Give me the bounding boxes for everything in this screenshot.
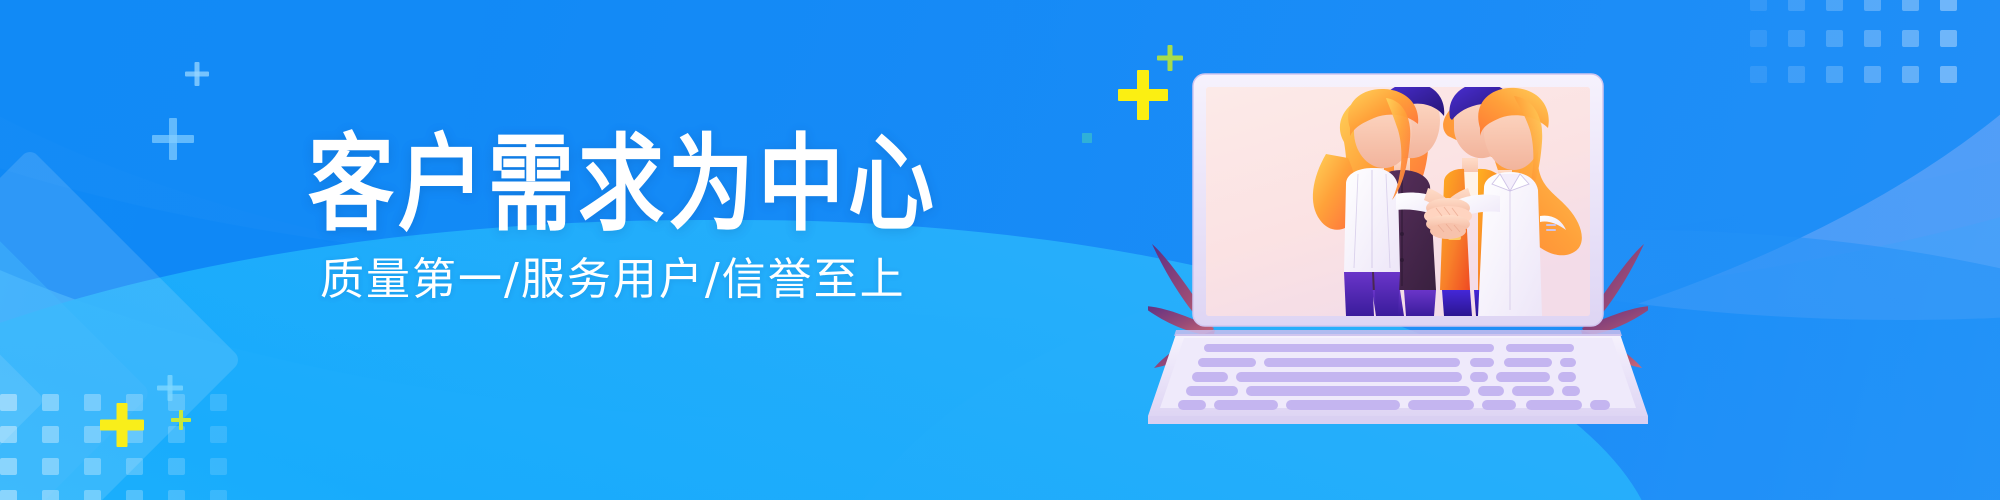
grid-square xyxy=(126,394,143,411)
grid-square xyxy=(1826,30,1843,47)
plus-icon-dot-accent xyxy=(1082,133,1092,143)
banner-subtitle: 质量第一/服务用户/信誉至上 xyxy=(320,258,906,302)
grid-square xyxy=(1750,66,1767,83)
plus-icon-cyan-small xyxy=(157,375,183,401)
grid-square xyxy=(1864,30,1881,47)
grid-square xyxy=(1750,30,1767,47)
grid-square xyxy=(168,426,185,443)
chevron-shape-middle xyxy=(0,216,152,500)
banner-headline: 客户需求为中心 xyxy=(308,130,1028,241)
grid-square xyxy=(210,394,227,411)
grid-square xyxy=(0,490,17,500)
plus-icon-yellow-small xyxy=(171,410,191,430)
plus-icon-blue-large xyxy=(152,118,194,160)
grid-square xyxy=(210,458,227,475)
grid-square xyxy=(0,458,17,475)
grid-square xyxy=(168,458,185,475)
grid-square xyxy=(168,490,185,500)
grid-square xyxy=(1940,0,1957,11)
grid-square xyxy=(1902,66,1919,83)
grid-square xyxy=(42,394,59,411)
promo-banner: 客户需求为中心 质量第一/服务用户/信誉至上 xyxy=(0,0,2000,500)
grid-square xyxy=(84,458,101,475)
team-handstack-laptop-illustration xyxy=(1148,58,1648,448)
square-grid-bottom-left xyxy=(0,394,330,500)
grid-square xyxy=(1826,0,1843,11)
grid-square xyxy=(1788,30,1805,47)
grid-square xyxy=(126,458,143,475)
grid-square xyxy=(84,490,101,500)
grid-square xyxy=(1902,0,1919,11)
plus-icon-yellow-large xyxy=(100,403,144,447)
grid-square xyxy=(1750,0,1767,11)
grid-square xyxy=(1864,0,1881,11)
laptop-screen-content xyxy=(1206,83,1590,316)
banner-text-block: 客户需求为中心 质量第一/服务用户/信誉至上 xyxy=(308,130,1028,221)
grid-square xyxy=(42,490,59,500)
grid-square xyxy=(210,426,227,443)
grid-square xyxy=(42,426,59,443)
grid-square xyxy=(42,458,59,475)
grid-square xyxy=(1940,66,1957,83)
grid-square xyxy=(1788,66,1805,83)
grid-square xyxy=(84,426,101,443)
chevron-shape-inner xyxy=(0,259,45,500)
grid-square xyxy=(1826,66,1843,83)
grid-square xyxy=(210,490,227,500)
grid-square xyxy=(1788,0,1805,11)
grid-square xyxy=(126,490,143,500)
grid-square xyxy=(1864,66,1881,83)
plus-icon-blue-small xyxy=(185,62,209,86)
grid-square xyxy=(0,394,17,411)
grid-square xyxy=(0,426,17,443)
laptop-keyboard-base xyxy=(1148,330,1648,424)
square-grid-top-right xyxy=(1750,0,2000,102)
chevron-shape-outer xyxy=(0,148,242,500)
grid-square xyxy=(126,426,143,443)
grid-square xyxy=(84,394,101,411)
grid-square xyxy=(168,394,185,411)
grid-square xyxy=(1940,30,1957,47)
grid-square xyxy=(1902,30,1919,47)
